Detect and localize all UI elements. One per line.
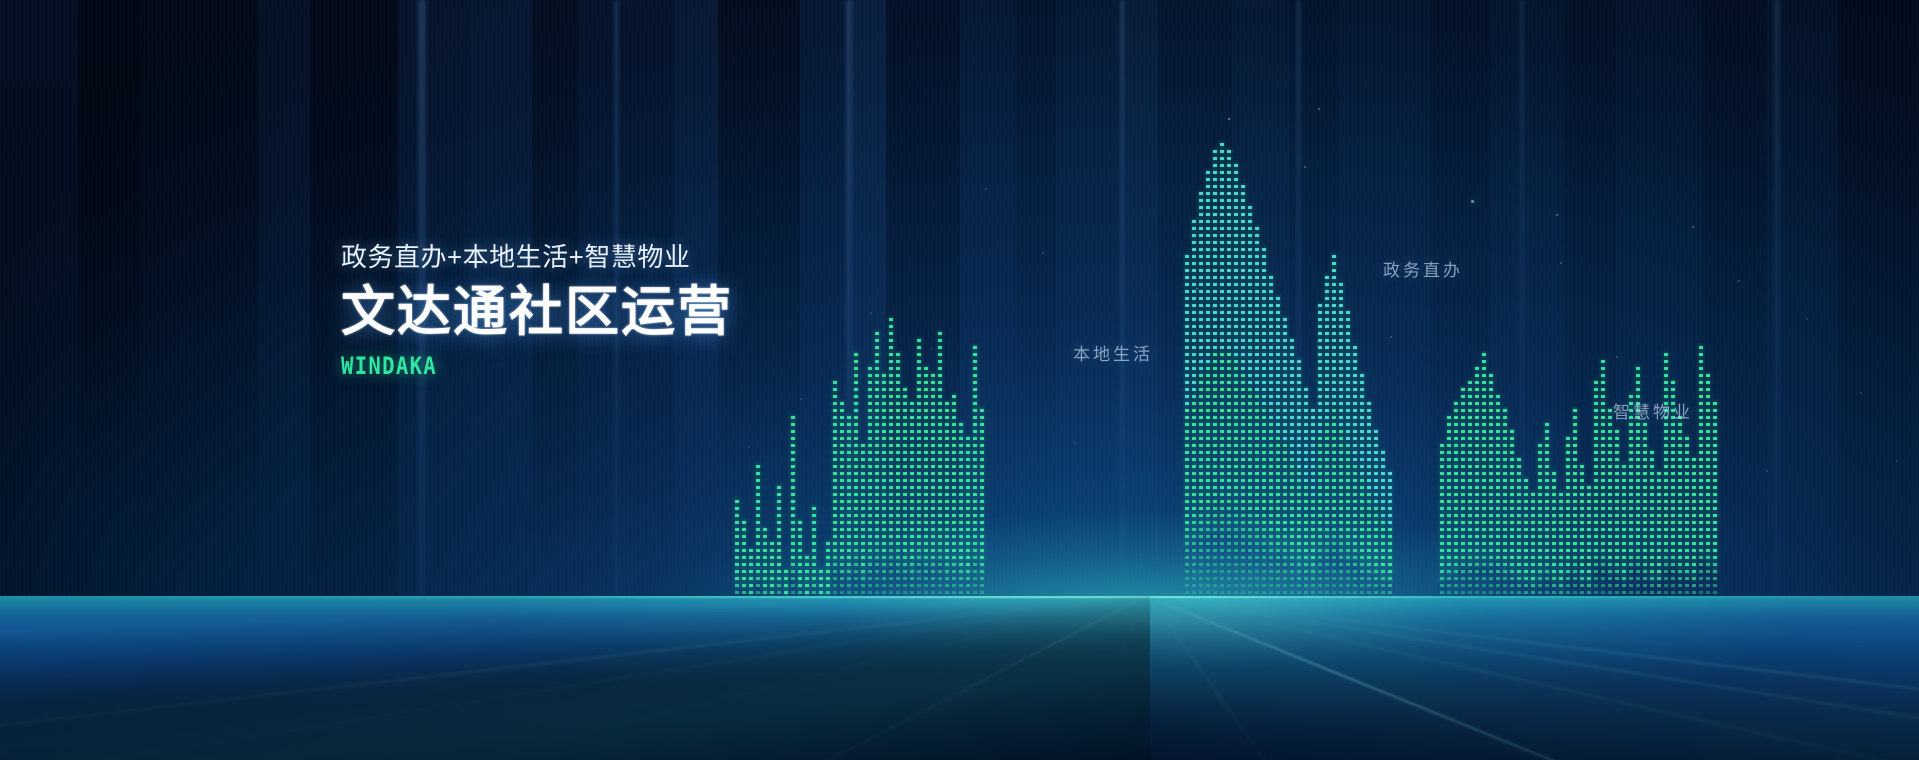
skyline-dot — [1713, 570, 1717, 573]
skyline-dot — [938, 563, 942, 566]
skyline-dot — [882, 381, 886, 384]
skyline-dot — [980, 465, 984, 468]
skyline-dot — [1332, 444, 1336, 447]
skyline-dot — [1447, 584, 1451, 587]
skyline-dot — [1318, 479, 1322, 482]
skyline-dot — [1538, 528, 1542, 531]
skyline-dot — [1643, 528, 1647, 531]
skyline-dot — [1325, 493, 1329, 496]
skyline-dot — [1475, 535, 1479, 538]
skyline-dot — [1332, 409, 1336, 412]
skyline-dot — [973, 521, 977, 524]
skyline-dot — [791, 528, 795, 531]
skyline-dot — [980, 514, 984, 517]
skyline-dot — [1699, 500, 1703, 503]
skyline-dot — [1290, 542, 1294, 545]
skyline-dot — [1220, 220, 1224, 223]
skyline-dot — [1692, 493, 1696, 496]
skyline-dot — [1262, 528, 1266, 531]
skyline-dot — [896, 556, 900, 559]
skyline-dot — [1255, 500, 1259, 503]
skyline-dot — [1213, 521, 1217, 524]
skyline-dot — [1692, 479, 1696, 482]
skyline-dot — [1643, 591, 1647, 594]
skyline-dot — [1241, 465, 1245, 468]
skyline-dot — [868, 416, 872, 419]
skyline-dot — [1524, 535, 1528, 538]
skyline-dot — [959, 430, 963, 433]
skyline-dot — [868, 423, 872, 426]
skyline-dot — [931, 437, 935, 440]
skyline-dot — [1206, 437, 1210, 440]
skyline-dot — [756, 591, 760, 594]
skyline-dot — [1657, 584, 1661, 587]
skyline-dot — [1297, 388, 1301, 391]
skyline-dot — [1475, 437, 1479, 440]
skyline-dot — [1220, 381, 1224, 384]
skyline-dot — [1304, 577, 1308, 580]
skyline-dot — [1510, 458, 1514, 461]
skyline-dot — [1643, 479, 1647, 482]
skyline-dot — [1517, 570, 1521, 573]
skyline-dot — [1699, 563, 1703, 566]
skyline-dot — [1276, 332, 1280, 335]
skyline-dot — [1318, 402, 1322, 405]
skyline-dot — [1678, 577, 1682, 580]
skyline-dot — [1192, 584, 1196, 587]
skyline-dot — [1360, 437, 1364, 440]
skyline-dot — [1185, 409, 1189, 412]
skyline-dot — [980, 444, 984, 447]
skyline-dot — [1199, 220, 1203, 223]
skyline-dot — [1304, 458, 1308, 461]
skyline-dot — [1304, 472, 1308, 475]
skyline-dot — [1269, 332, 1273, 335]
skyline-dot — [1367, 465, 1371, 468]
skyline-dot — [1353, 367, 1357, 370]
skyline-dot — [1269, 584, 1273, 587]
skyline-dot — [1475, 556, 1479, 559]
skyline-dot — [1262, 493, 1266, 496]
skyline-dot — [1262, 276, 1266, 279]
skyline-dot — [1447, 514, 1451, 517]
skyline-dot — [1213, 227, 1217, 230]
skyline-dot — [1643, 507, 1647, 510]
skyline-dot — [1601, 416, 1605, 419]
skyline-dot — [1643, 486, 1647, 489]
skyline-dot — [1332, 521, 1336, 524]
skyline-dot — [1468, 395, 1472, 398]
skyline-dot — [1374, 549, 1378, 552]
skyline-dot — [1713, 535, 1717, 538]
skyline-dot — [1608, 416, 1612, 419]
skyline-dot — [903, 584, 907, 587]
skyline-dot — [882, 500, 886, 503]
skyline-dot — [1468, 444, 1472, 447]
skyline-dot — [966, 451, 970, 454]
skyline-dot — [1283, 374, 1287, 377]
skyline-dot — [1559, 577, 1563, 580]
skyline-dot — [1241, 577, 1245, 580]
skyline-dot — [1227, 346, 1231, 349]
skyline-dot — [1566, 556, 1570, 559]
skyline-dot — [882, 563, 886, 566]
skyline-dot — [1332, 465, 1336, 468]
skyline-dot — [1346, 479, 1350, 482]
skyline-dot — [973, 584, 977, 587]
skyline-dot — [847, 556, 851, 559]
skyline-dot — [889, 395, 893, 398]
skyline-dot — [966, 458, 970, 461]
skyline-dot — [952, 395, 956, 398]
skyline-dot — [1241, 402, 1245, 405]
skyline-bar — [931, 368, 935, 608]
skyline-dot — [924, 570, 928, 573]
skyline-dot — [812, 542, 816, 545]
skyline-bar — [1601, 350, 1605, 608]
skyline-dot — [903, 500, 907, 503]
skyline-dot — [1248, 374, 1252, 377]
skyline-dot — [1636, 486, 1640, 489]
skyline-dot — [868, 409, 872, 412]
skyline-dot — [1503, 416, 1507, 419]
skyline-dot — [1685, 507, 1689, 510]
skyline-dot — [1227, 542, 1231, 545]
skyline-dot — [1255, 276, 1259, 279]
skyline-dot — [945, 416, 949, 419]
skyline-dot — [1318, 549, 1322, 552]
skyline-dot — [1678, 500, 1682, 503]
skyline-dot — [1192, 269, 1196, 272]
skyline-dot — [1234, 556, 1238, 559]
skyline-dot — [1192, 500, 1196, 503]
skyline-dot — [1325, 339, 1329, 342]
skyline-dot — [1262, 290, 1266, 293]
skyline-dot — [1199, 395, 1203, 398]
skyline-dot — [1447, 570, 1451, 573]
skyline-dot — [770, 570, 774, 573]
skyline-dot — [1234, 339, 1238, 342]
skyline-dot — [875, 395, 879, 398]
skyline-dot — [1311, 430, 1315, 433]
skyline-dot — [854, 584, 858, 587]
skyline-dot — [1185, 444, 1189, 447]
skyline-dot — [1332, 570, 1336, 573]
skyline-dot — [1657, 521, 1661, 524]
skyline-dot — [1269, 283, 1273, 286]
skyline-dot — [1346, 521, 1350, 524]
skyline-dot — [1367, 542, 1371, 545]
skyline-dot — [1650, 535, 1654, 538]
skyline-dot — [805, 591, 809, 594]
skyline-dot — [1594, 563, 1598, 566]
skyline-dot — [1276, 451, 1280, 454]
skyline-dot — [1297, 514, 1301, 517]
skyline-dot — [861, 535, 865, 538]
skyline-dot — [1206, 199, 1210, 202]
skyline-dot — [1297, 367, 1301, 370]
skyline-dot — [1664, 388, 1668, 391]
skyline-dot — [1227, 367, 1231, 370]
skyline-dot — [1192, 493, 1196, 496]
skyline-dot — [1227, 381, 1231, 384]
skyline-dot — [1255, 521, 1259, 524]
skyline-dot — [1699, 437, 1703, 440]
skyline-dot — [889, 388, 893, 391]
skyline-dot — [868, 570, 872, 573]
skyline-dot — [1255, 570, 1259, 573]
skyline-dot — [1524, 591, 1528, 594]
skyline-dot — [1346, 430, 1350, 433]
skyline-dot — [1360, 416, 1364, 419]
skyline-dot — [1290, 367, 1294, 370]
skyline-dot — [833, 388, 837, 391]
skyline-dot — [889, 437, 893, 440]
skyline-dot — [917, 381, 921, 384]
skyline-dot — [959, 577, 963, 580]
skyline-dot — [917, 549, 921, 552]
skyline-dot — [1283, 528, 1287, 531]
skyline-dot — [1482, 493, 1486, 496]
skyline-dot — [1545, 549, 1549, 552]
skyline-dot — [1297, 381, 1301, 384]
skyline-dot — [840, 570, 844, 573]
skyline-dot — [1339, 500, 1343, 503]
skyline-dot — [861, 479, 865, 482]
skyline-dot — [840, 591, 844, 594]
skyline-dot — [1332, 332, 1336, 335]
skyline-dot — [1360, 472, 1364, 475]
skyline-dot — [1615, 486, 1619, 489]
skyline-dot — [1290, 584, 1294, 587]
skyline-dot — [1332, 360, 1336, 363]
skyline-dot — [1304, 402, 1308, 405]
skyline-dot — [1545, 514, 1549, 517]
skyline-dot — [1678, 458, 1682, 461]
skyline-dot — [1353, 584, 1357, 587]
skyline-dot — [1269, 528, 1273, 531]
skyline-dot — [1255, 290, 1259, 293]
skyline-dot — [1339, 353, 1343, 356]
skyline-dot — [1685, 577, 1689, 580]
skyline-dot — [1248, 521, 1252, 524]
skyline-dot — [1234, 486, 1238, 489]
skyline-dot — [1339, 479, 1343, 482]
skyline-dot — [868, 549, 872, 552]
skyline-dot — [1360, 486, 1364, 489]
skyline-dot — [910, 563, 914, 566]
skyline-dot — [1192, 262, 1196, 265]
skyline-dot — [1601, 577, 1605, 580]
skyline-dot — [1318, 367, 1322, 370]
skyline-dot — [1489, 507, 1493, 510]
skyline-dot — [889, 591, 893, 594]
skyline-dot — [959, 479, 963, 482]
skyline-dot — [1311, 493, 1315, 496]
skyline-dot — [1706, 409, 1710, 412]
skyline-dot — [917, 493, 921, 496]
skyline-dot — [1713, 409, 1717, 412]
skyline-dot — [1503, 528, 1507, 531]
skyline-dot — [973, 472, 977, 475]
skyline-dot — [1234, 381, 1238, 384]
skyline-dot — [1374, 556, 1378, 559]
skyline-dot — [1241, 458, 1245, 461]
skyline-dot — [868, 437, 872, 440]
skyline-dot — [1671, 430, 1675, 433]
skyline-dot — [854, 402, 858, 405]
skyline-dot — [1220, 416, 1224, 419]
skyline-dot — [1290, 388, 1294, 391]
skyline-dot — [1213, 241, 1217, 244]
skyline-dot — [924, 542, 928, 545]
skyline-dot — [1524, 479, 1528, 482]
skyline-dot — [917, 535, 921, 538]
skyline-dot — [1206, 535, 1210, 538]
skyline-dot — [791, 472, 795, 475]
skyline-dot — [1269, 318, 1273, 321]
skyline-dot — [1664, 374, 1668, 377]
skyline-dot — [1192, 542, 1196, 545]
skyline-dot — [1318, 486, 1322, 489]
skyline-dot — [1255, 584, 1259, 587]
skyline-dot — [1559, 563, 1563, 566]
skyline-dot — [1255, 479, 1259, 482]
skyline-dot — [1318, 556, 1322, 559]
skyline-dot — [903, 430, 907, 433]
skyline-dot — [1325, 332, 1329, 335]
skyline-dot — [966, 542, 970, 545]
skyline-dot — [1185, 472, 1189, 475]
skyline-dot — [1248, 388, 1252, 391]
skyline-dot — [1629, 423, 1633, 426]
skyline-dot — [1332, 304, 1336, 307]
skyline-dot — [917, 563, 921, 566]
skyline-dot — [833, 507, 837, 510]
skyline-dot — [735, 584, 739, 587]
skyline-dot — [1346, 437, 1350, 440]
skyline-dot — [896, 500, 900, 503]
skyline-dot — [1241, 234, 1245, 237]
skyline-dot — [1636, 556, 1640, 559]
skyline-dot — [1468, 409, 1472, 412]
skyline-dot — [1318, 304, 1322, 307]
skyline-dot — [1685, 444, 1689, 447]
skyline-dot — [1227, 185, 1231, 188]
skyline-dot — [756, 549, 760, 552]
skyline-dot — [1346, 325, 1350, 328]
skyline-dot — [924, 423, 928, 426]
skyline-dot — [1227, 577, 1231, 580]
skyline-dot — [882, 465, 886, 468]
skyline-dot — [1496, 535, 1500, 538]
skyline-bar — [1503, 402, 1507, 608]
skyline-bar — [1608, 400, 1612, 608]
skyline-dot — [1283, 325, 1287, 328]
skyline-dot — [952, 486, 956, 489]
skyline-dot — [1241, 325, 1245, 328]
skyline-dot — [1503, 409, 1507, 412]
skyline-dot — [1381, 535, 1385, 538]
skyline-dot — [1545, 521, 1549, 524]
skyline-dot — [1304, 563, 1308, 566]
skyline-dot — [1510, 514, 1514, 517]
skyline-dot — [889, 528, 893, 531]
skyline-dot — [1206, 493, 1210, 496]
skyline-dot — [1325, 437, 1329, 440]
skyline-dot — [1248, 325, 1252, 328]
skyline-dot — [1559, 528, 1563, 531]
skyline-dot — [1643, 500, 1647, 503]
skyline-dot — [1227, 164, 1231, 167]
skyline-dot — [1262, 416, 1266, 419]
skyline-dot — [1699, 479, 1703, 482]
skyline-dot — [1545, 563, 1549, 566]
skyline-dot — [1566, 444, 1570, 447]
skyline-dot — [1566, 563, 1570, 566]
skyline-dot — [1496, 486, 1500, 489]
skyline-dot — [896, 381, 900, 384]
skyline-dot — [1601, 395, 1605, 398]
skyline-dot — [1601, 479, 1605, 482]
skyline-dot — [1636, 381, 1640, 384]
skyline-dot — [1629, 437, 1633, 440]
skyline-dot — [1615, 528, 1619, 531]
skyline-dot — [896, 416, 900, 419]
skyline-dot — [938, 444, 942, 447]
skyline-dot — [1601, 570, 1605, 573]
skyline-dot — [1227, 556, 1231, 559]
skyline-dot — [882, 409, 886, 412]
skyline-dot — [1241, 213, 1245, 216]
skyline-dot — [1332, 346, 1336, 349]
skyline-dot — [1559, 521, 1563, 524]
skyline-dot — [833, 472, 837, 475]
skyline-dot — [1685, 465, 1689, 468]
skyline-dot — [952, 549, 956, 552]
skyline-dot — [1241, 304, 1245, 307]
skyline-dot — [1255, 360, 1259, 363]
skyline-dot — [882, 556, 886, 559]
skyline-bar — [812, 498, 816, 608]
skyline-dot — [1643, 430, 1647, 433]
skyline-dot — [1325, 304, 1329, 307]
skyline-dot — [952, 437, 956, 440]
skyline-dot — [1297, 535, 1301, 538]
skyline-dot — [861, 570, 865, 573]
skyline-dot — [1332, 423, 1336, 426]
skyline-dot — [854, 395, 858, 398]
skyline-bar — [945, 398, 949, 608]
skyline-dot — [812, 591, 816, 594]
skyline-bar — [1713, 396, 1717, 608]
skyline-dot — [1206, 192, 1210, 195]
skyline-dot — [903, 395, 907, 398]
skyline-dot — [1671, 500, 1675, 503]
skyline-dot — [924, 493, 928, 496]
skyline-dot — [1206, 521, 1210, 524]
skyline-dot — [903, 402, 907, 405]
skyline-dot — [882, 430, 886, 433]
skyline-dot — [1503, 486, 1507, 489]
skyline-dot — [749, 563, 753, 566]
skyline-dot — [917, 416, 921, 419]
skyline-dot — [777, 542, 781, 545]
skyline-dot — [1332, 339, 1336, 342]
skyline-dot — [1185, 451, 1189, 454]
skyline-dot — [1213, 339, 1217, 342]
skyline-dot — [1213, 318, 1217, 321]
